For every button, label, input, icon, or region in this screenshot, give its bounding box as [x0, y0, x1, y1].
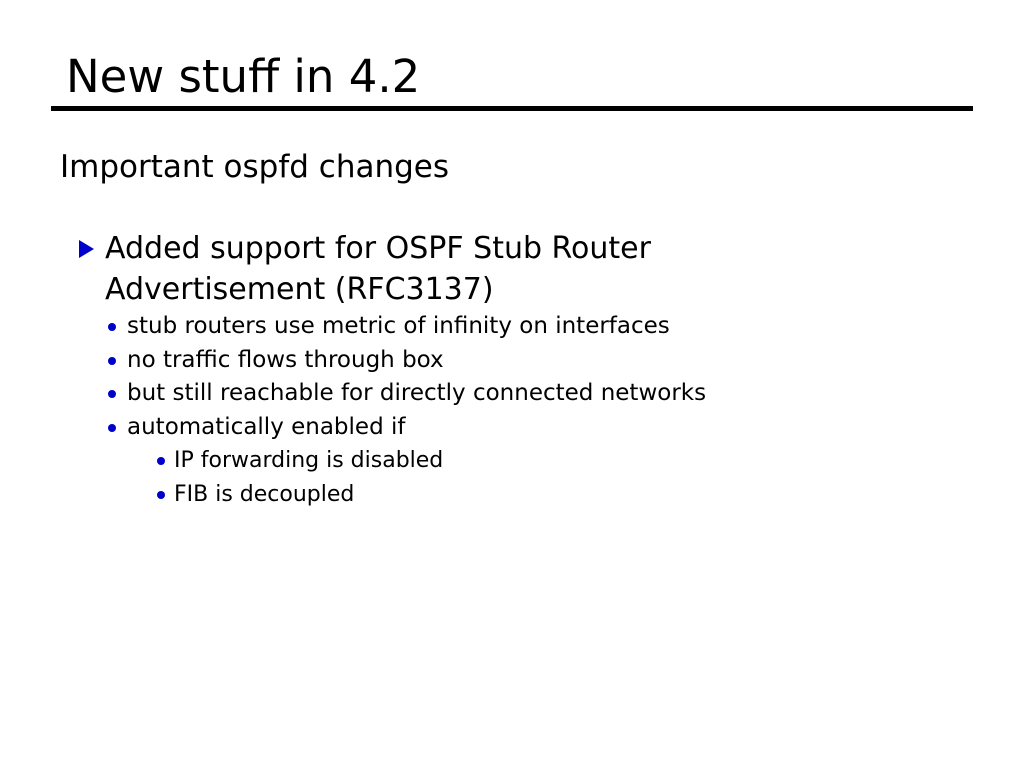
outline-sublist-level3: IP forwarding is disabled FIB is decoupl…	[0, 444, 1024, 512]
outline-item-level2-label: no traffic flows through box	[127, 347, 444, 373]
round-bullet-icon	[157, 491, 165, 499]
page-title: New stuff in 4.2	[51, 52, 973, 102]
section-subheading: Important ospfd changes	[60, 148, 449, 186]
list-item: stub routers use metric of infinity on i…	[0, 310, 1024, 344]
round-bullet-icon	[108, 424, 116, 432]
round-bullet-icon	[108, 390, 116, 398]
outline-item-level1-label: Added support for OSPF Stub Router Adver…	[105, 228, 805, 310]
round-bullet-icon	[157, 457, 165, 465]
slide-canvas: New stuff in 4.2 Important ospfd changes…	[0, 0, 1024, 768]
list-item: IP forwarding is disabled	[0, 444, 1024, 478]
list-item: but still reachable for directly connect…	[0, 377, 1024, 411]
list-item: automatically enabled if	[0, 411, 1024, 445]
outline-list: Added support for OSPF Stub Router Adver…	[0, 228, 1024, 512]
outline-item-level3-label: FIB is decoupled	[174, 482, 354, 507]
title-divider	[51, 106, 973, 111]
list-item: no traffic flows through box	[0, 344, 1024, 378]
round-bullet-icon	[108, 323, 116, 331]
outline-item-level2-label: stub routers use metric of infinity on i…	[127, 313, 670, 339]
outline-item-level2-label: but still reachable for directly connect…	[127, 380, 706, 406]
slide-title-block: New stuff in 4.2	[51, 52, 973, 111]
outline-sublist-level2: stub routers use metric of infinity on i…	[0, 310, 1024, 444]
outline-item-level2-label: automatically enabled if	[127, 414, 405, 440]
list-item: FIB is decoupled	[0, 478, 1024, 512]
round-bullet-icon	[108, 357, 116, 365]
outline-item-level3-label: IP forwarding is disabled	[174, 448, 443, 473]
triangle-bullet-icon	[79, 240, 94, 258]
outline-item-level1: Added support for OSPF Stub Router Adver…	[0, 228, 845, 310]
